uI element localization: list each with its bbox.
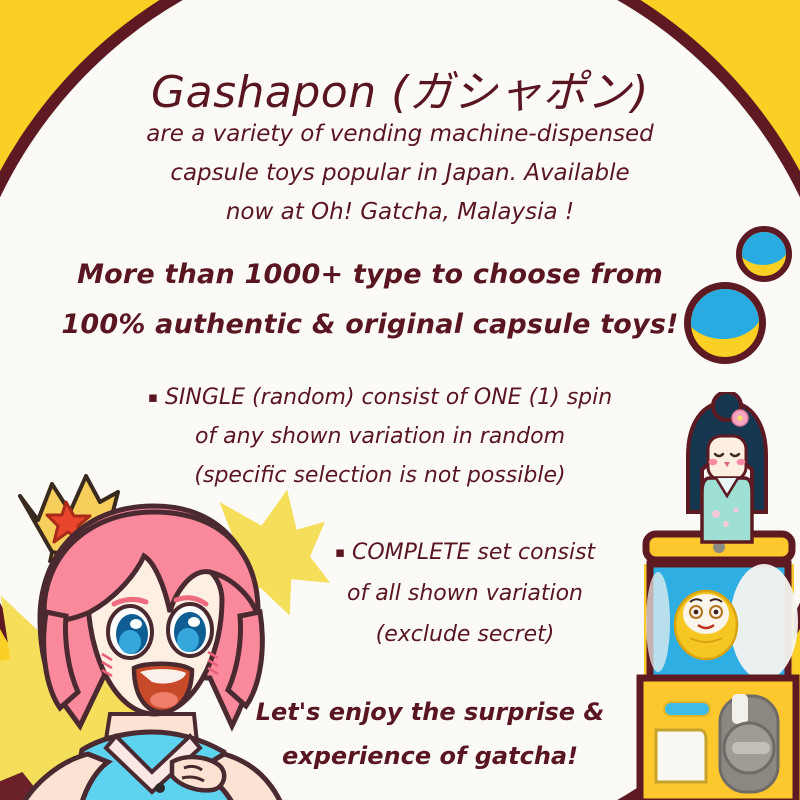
complete-option-first-line: ▪ COMPLETE set consist: [290, 532, 640, 573]
intro-line: now at Oh! Gatcha, Malaysia !: [110, 193, 690, 232]
headline-line: More than 1000+ type to choose from: [40, 250, 700, 300]
square-bullet-icon: ▪: [148, 388, 158, 406]
intro-line: capsule toys popular in Japan. Available: [110, 154, 690, 193]
intro-line: are a variety of vending machine-dispens…: [110, 115, 690, 154]
complete-option-block: ▪ COMPLETE set consist of all shown vari…: [290, 532, 640, 655]
single-option-line: of any shown variation in random: [120, 417, 640, 456]
closing-line: experience of gatcha!: [240, 734, 620, 778]
complete-option-line: of all shown variation: [290, 573, 640, 614]
closing-block: Let's enjoy the surprise & experience of…: [240, 690, 620, 778]
headline-block: More than 1000+ type to choose from 100%…: [40, 250, 700, 350]
text-layer: Gashapon (ガシャポン) are a variety of vendin…: [0, 0, 800, 800]
page-title: Gashapon (ガシャポン): [0, 56, 800, 120]
complete-option-line: (exclude secret): [290, 614, 640, 655]
complete-option-line: COMPLETE set consist: [352, 540, 595, 565]
single-option-first-line: ▪ SINGLE (random) consist of ONE (1) spi…: [120, 378, 640, 417]
closing-line: Let's enjoy the surprise &: [240, 690, 620, 734]
square-bullet-icon: ▪: [335, 543, 345, 561]
single-option-block: ▪ SINGLE (random) consist of ONE (1) spi…: [120, 378, 640, 495]
poster-canvas: Gashapon (ガシャポン) are a variety of vendin…: [0, 0, 800, 800]
single-option-line: SINGLE (random) consist of ONE (1) spin: [165, 385, 612, 410]
headline-line: 100% authentic & original capsule toys!: [40, 300, 700, 350]
single-option-line: (specific selection is not possible): [120, 456, 640, 495]
intro-paragraph: are a variety of vending machine-dispens…: [110, 115, 690, 232]
